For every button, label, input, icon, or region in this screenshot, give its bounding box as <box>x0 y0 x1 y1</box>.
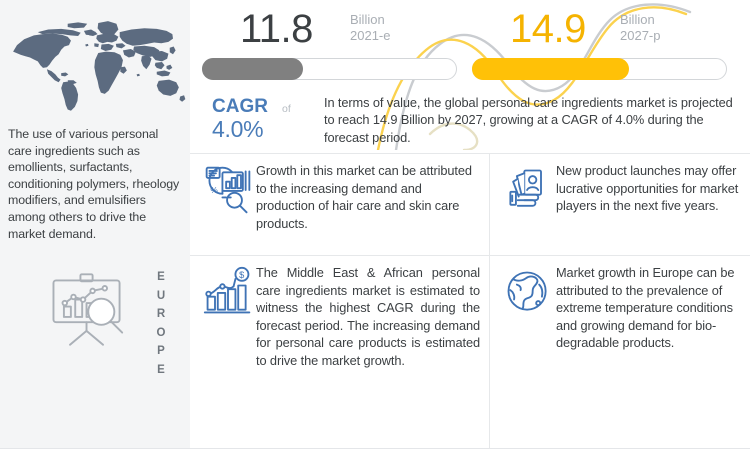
stats-row: 11.8 Billion 2021-e 14.9 Billion 2027-p <box>190 0 750 92</box>
stat-2027-value: 14.9 <box>510 8 586 50</box>
stat-2027-bar-track <box>472 58 727 80</box>
insight-cell: $ The Middle East & Afri <box>190 256 490 449</box>
insight-cell: % Growth <box>190 154 490 256</box>
europe-label: E U R O P E <box>150 268 172 379</box>
stat-2021-head: 11.8 Billion 2021-e <box>198 0 463 56</box>
stat-2021-bar-track <box>202 58 457 80</box>
left-panel-description: The use of various personal care ingredi… <box>8 126 180 242</box>
globe-icon <box>502 266 554 318</box>
growth-bar-chart-dollar-icon: $ <box>202 266 254 318</box>
cagr-value: 4.0% <box>212 116 263 143</box>
europe-region-block: E U R O P E <box>42 268 182 378</box>
summary-text: In terms of value, the global personal c… <box>324 94 742 146</box>
stat-2021-unit: Billion 2021-e <box>350 12 390 43</box>
svg-text:$: $ <box>239 270 244 280</box>
cagr-of-label: of <box>282 103 291 115</box>
left-panel: The use of various personal care ingredi… <box>0 0 190 449</box>
insight-text: Growth in this market can be attributed … <box>256 162 478 232</box>
main-area: 11.8 Billion 2021-e 14.9 Billion 2027-p <box>190 0 750 449</box>
pie-bar-chart-magnifier-icon: % <box>202 164 254 216</box>
world-map-icon <box>4 14 186 114</box>
stat-2027-head: 14.9 Billion 2027-p <box>468 0 733 56</box>
stat-2021: 11.8 Billion 2021-e <box>198 0 463 92</box>
stat-2021-bar-fill <box>202 58 303 80</box>
stat-2027-bar-fill <box>472 58 629 80</box>
insight-cell: New product launches may offer lucrative… <box>490 154 750 256</box>
cagr-badge: CAGR of 4.0% <box>204 94 324 150</box>
insight-text: Market growth in Europe can be attribute… <box>556 264 742 352</box>
stat-2027: 14.9 Billion 2027-p <box>468 0 733 92</box>
stat-2021-value: 11.8 <box>240 8 313 50</box>
presentation-chart-magnifier-icon <box>42 270 138 350</box>
insight-cell: Market growth in Europe can be attribute… <box>490 256 750 449</box>
insights-grid: % Growth <box>190 153 750 449</box>
insight-text: New product launches may offer lucrative… <box>556 162 744 215</box>
insight-text: The Middle East & African personal care … <box>256 264 480 370</box>
cagr-label: CAGR <box>212 96 268 118</box>
cagr-summary-row: CAGR of 4.0% In terms of value, the glob… <box>190 94 750 152</box>
hand-holding-documents-icon <box>502 164 554 216</box>
svg-text:%: % <box>210 185 218 195</box>
infographic-root: The use of various personal care ingredi… <box>0 0 750 449</box>
stat-2027-unit: Billion 2027-p <box>620 12 660 43</box>
